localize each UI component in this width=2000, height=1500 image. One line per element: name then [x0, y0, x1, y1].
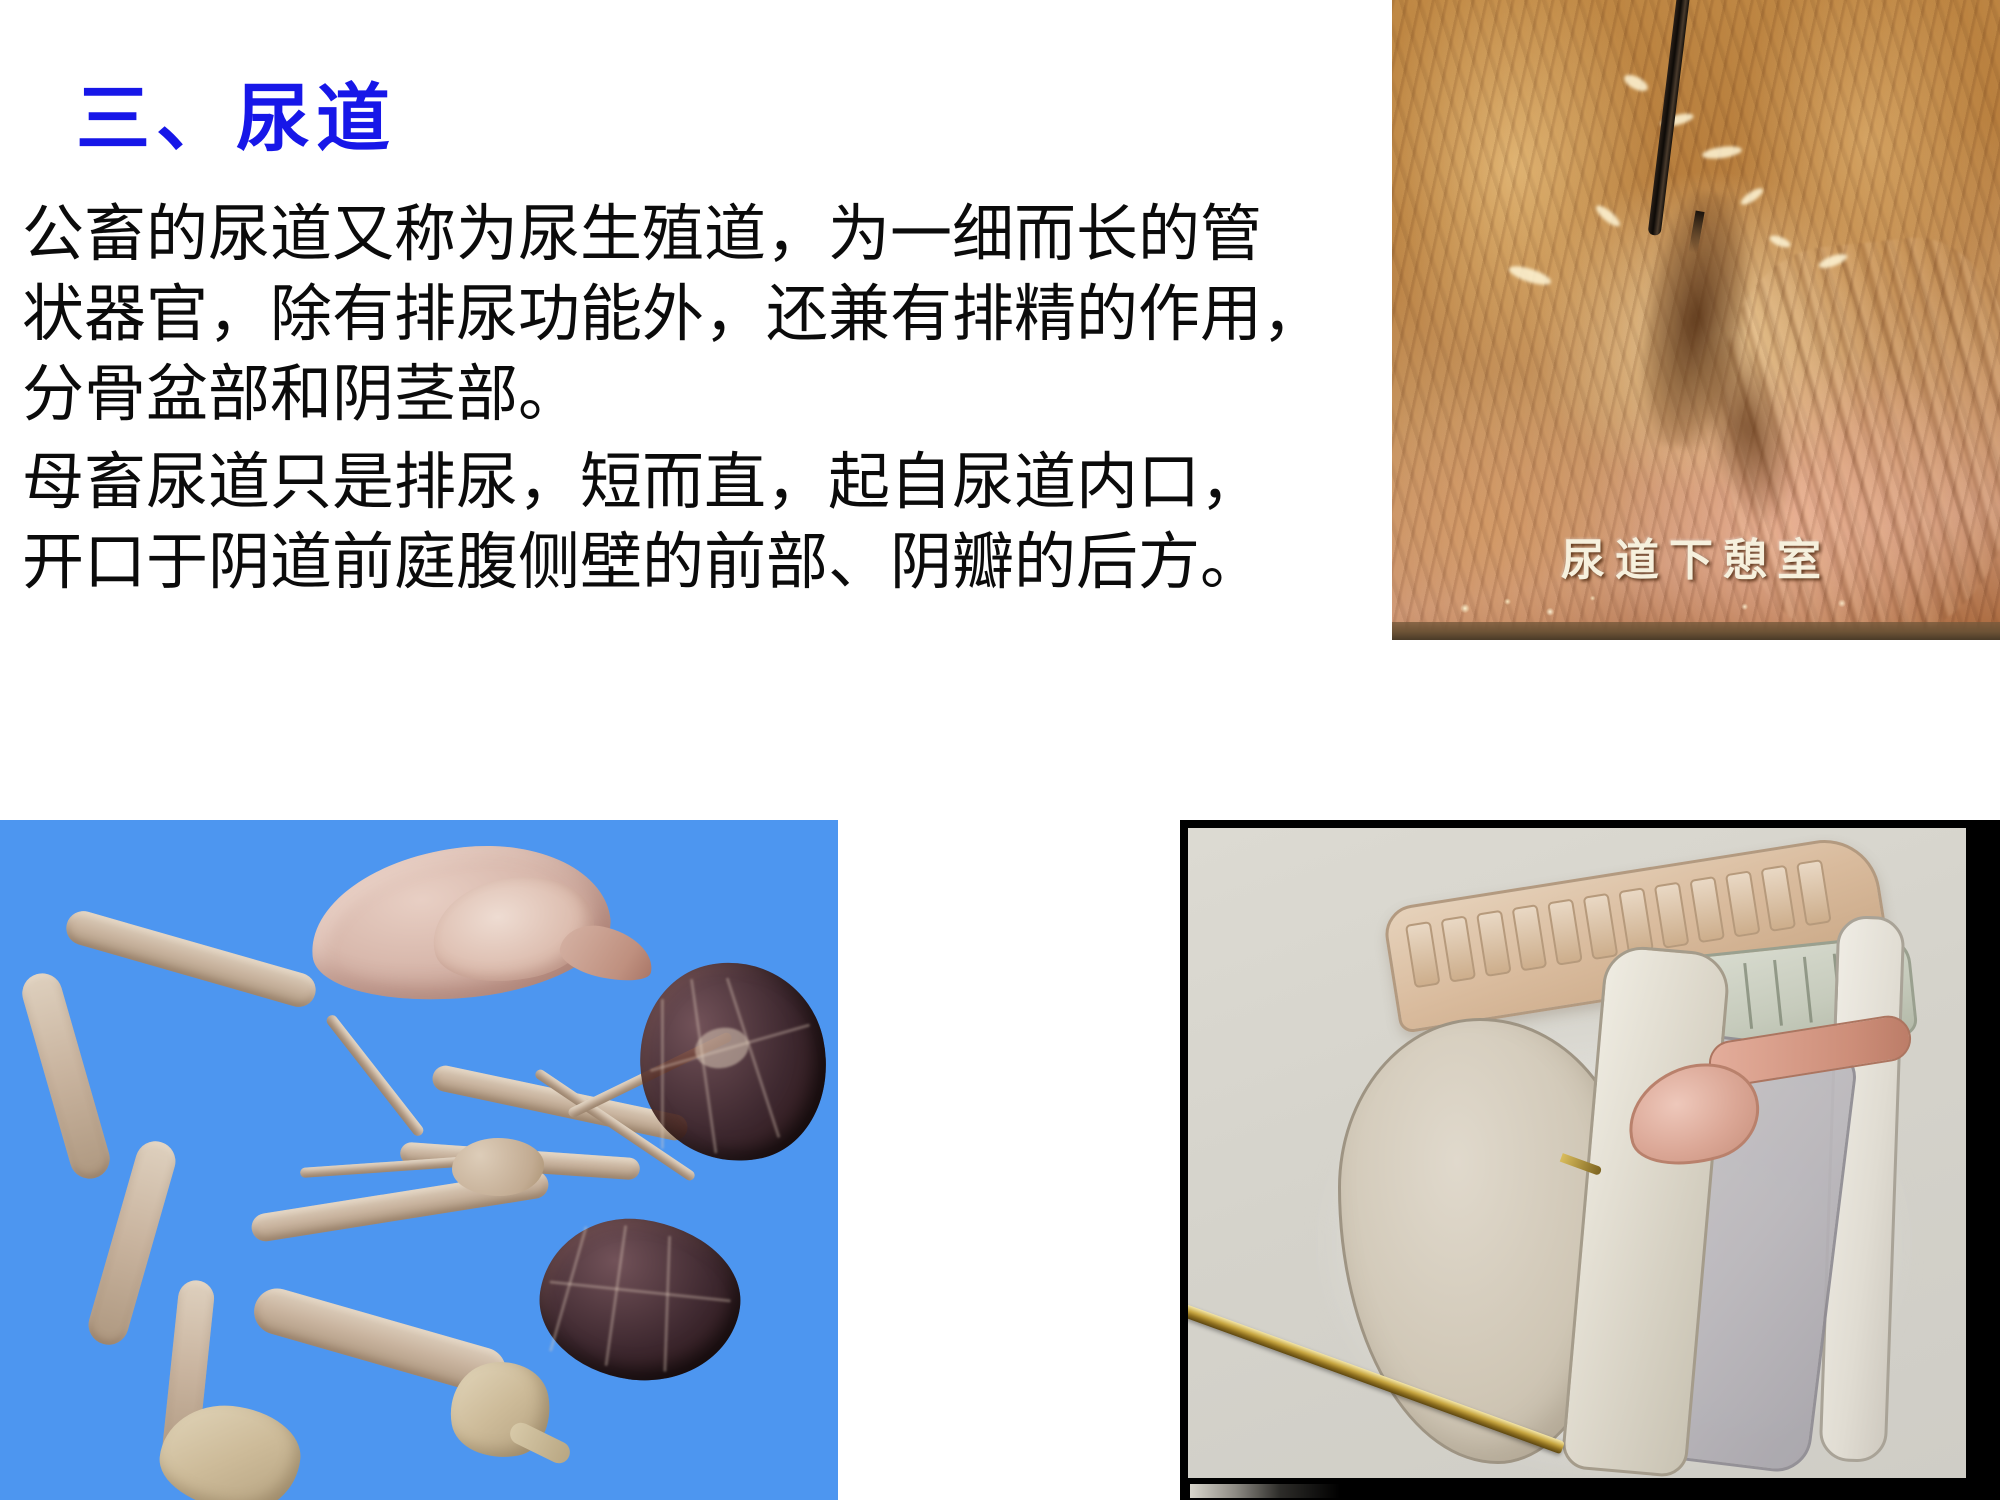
vertebra [1689, 876, 1725, 943]
sacrum-ridge [1743, 963, 1753, 1029]
body-text-block: 公畜的尿道又称为尿生殖道，为一细而长的管 状器官，除有排尿功能外，还兼有排精的作… [22, 194, 1412, 602]
body-line-5: 开口于阴道前庭腹侧壁的前部、阴瓣的后方。 [22, 522, 1412, 602]
urethral-diverticulum-photo: 尿道下憩室 [1392, 0, 2000, 640]
testis-septum [550, 1280, 731, 1302]
vertebra [1618, 887, 1654, 954]
photo-canvas: 尿道下憩室 [1392, 0, 2000, 640]
specimen-testis-upper [621, 945, 838, 1179]
bottom-highlight-specks [1392, 588, 2000, 622]
photo-caption: 尿道下憩室 [1392, 524, 2000, 588]
photo-bottom-edge [1392, 622, 2000, 640]
vertebra [1654, 882, 1690, 949]
vertebra [1796, 859, 1832, 926]
testis-septum [605, 1225, 628, 1366]
vertebra [1512, 904, 1548, 971]
frame-right-bar [1966, 820, 2000, 1500]
frame-bottom-gradient [1190, 1484, 1340, 1498]
vertebra [1725, 870, 1761, 937]
page-title: 三、尿道 [76, 82, 396, 156]
body-line-2: 状器官，除有排尿功能外，还兼有排精的作用， [22, 274, 1412, 354]
slide-canvas: 三、尿道 公畜的尿道又称为尿生殖道，为一细而长的管 状器官，除有排尿功能外，还兼… [0, 0, 2000, 1500]
vertebra [1583, 893, 1619, 960]
sacrum-ridge [1773, 960, 1783, 1026]
vertebra [1547, 898, 1583, 965]
vertebra [1405, 921, 1441, 988]
specimen-duct-left-1 [18, 969, 115, 1184]
sacrum-ridge [1803, 957, 1813, 1023]
vertebra [1440, 915, 1476, 982]
body-line-4: 母畜尿道只是排尿，短而直，起自尿道内口， [22, 442, 1412, 522]
body-line-3: 分骨盆部和阴茎部。 [22, 354, 1412, 434]
specimen-thin-cord-1 [324, 1013, 425, 1138]
body-line-1: 公畜的尿道又称为尿生殖道，为一细而长的管 [22, 194, 1412, 274]
testis-septum [663, 1236, 671, 1372]
vertebra [1760, 865, 1796, 932]
testis-septum [661, 999, 664, 1149]
testis-septum [549, 1226, 588, 1352]
pelvis-anatomy-diagram [1180, 820, 2000, 1500]
male-tract-specimen-photo [0, 820, 838, 1500]
specimen-testis-lower [530, 1207, 750, 1393]
specimen-gland-cluster [452, 1138, 544, 1196]
specimen-duct-upper-left [62, 907, 319, 1011]
diagram-plate [1188, 828, 1966, 1478]
vertebra [1476, 910, 1512, 977]
